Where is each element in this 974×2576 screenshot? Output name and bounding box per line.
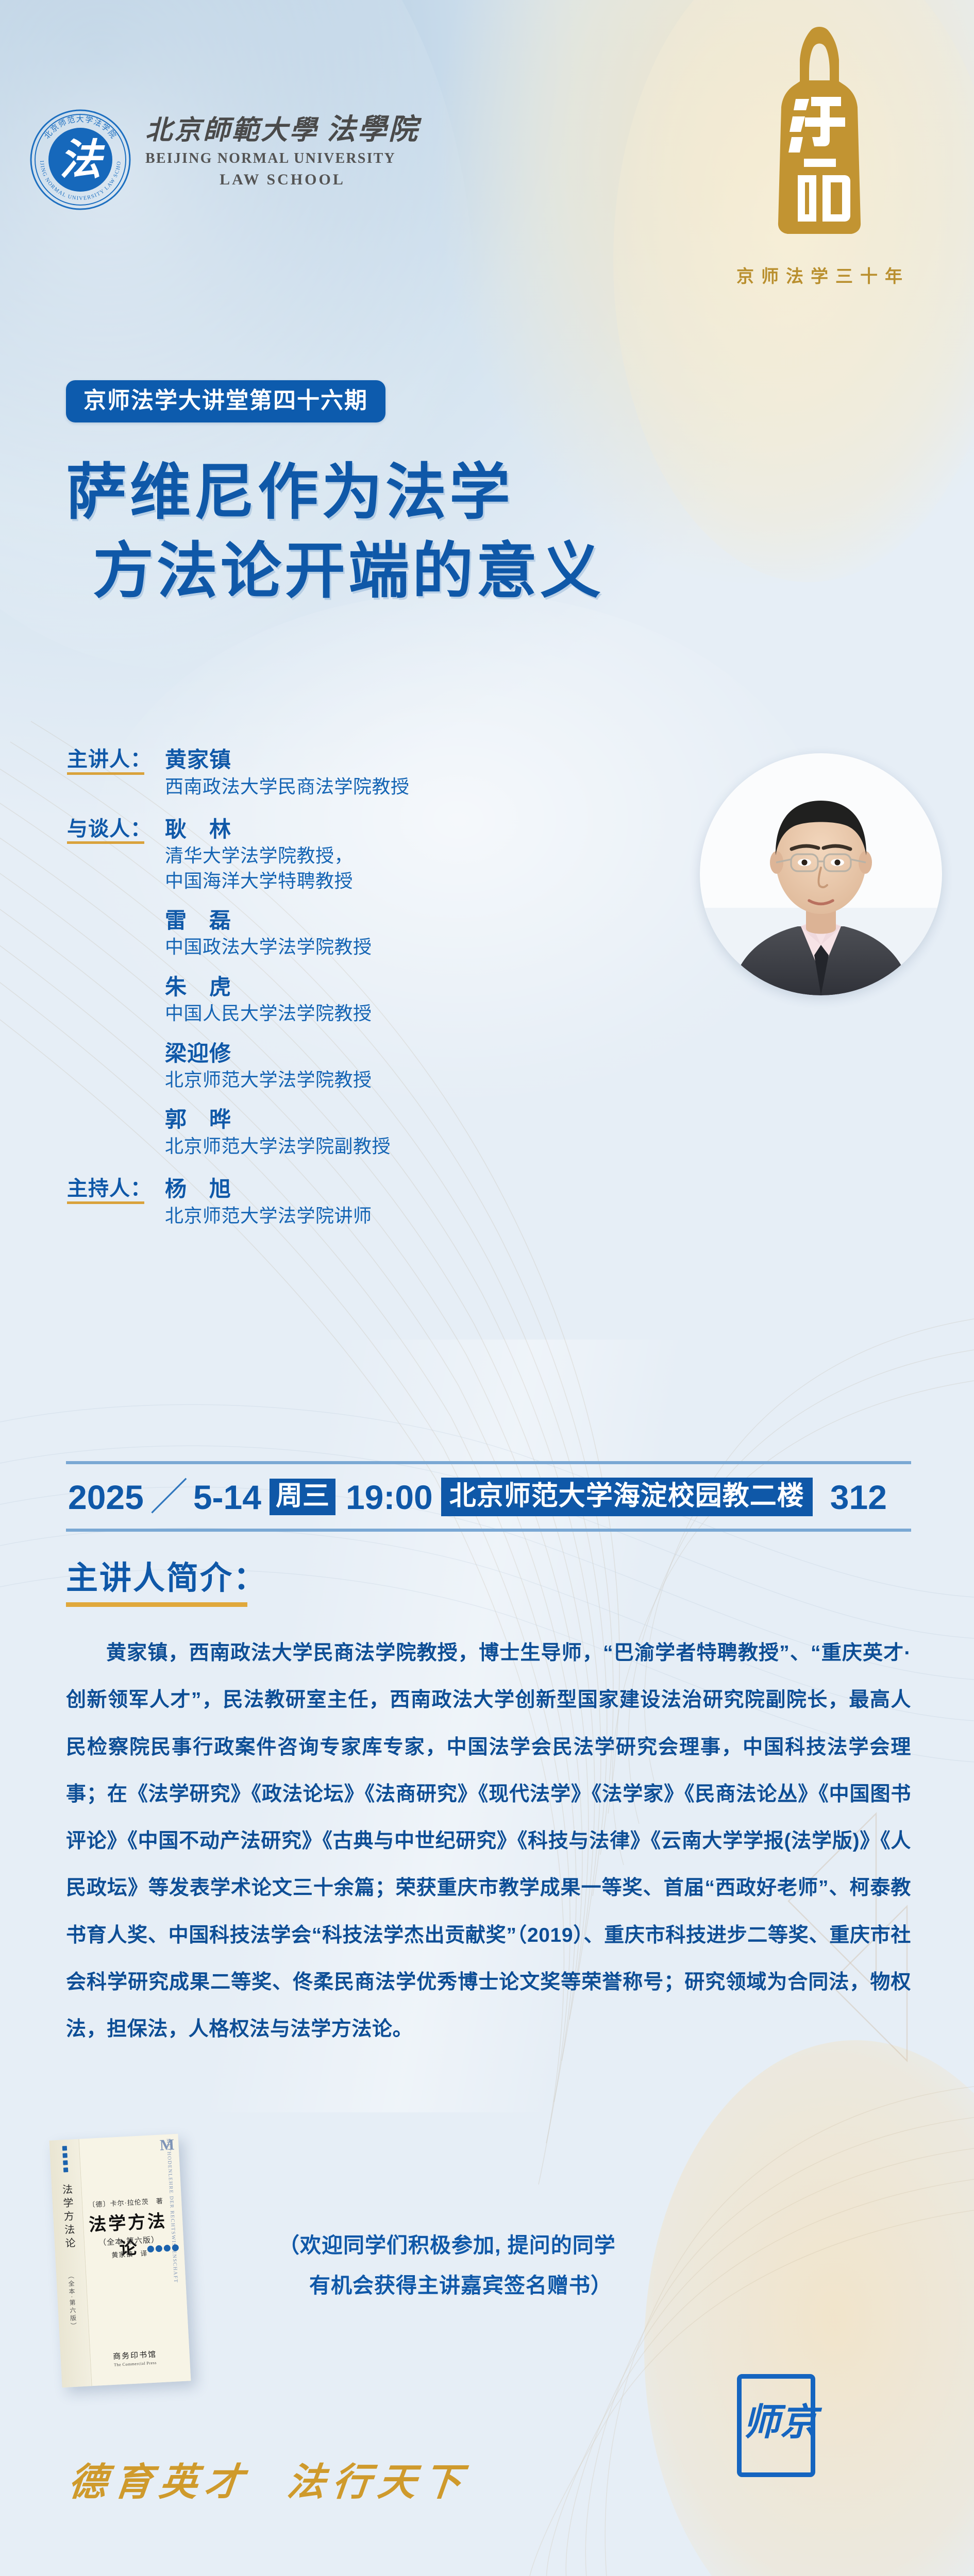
event-date: 5-14 <box>193 1480 261 1514</box>
event-weekday-chip: 周三 <box>270 1479 335 1515</box>
poster-header: 北京师范大学法学院 BEIJING NORMAL UNIVERSITY LAW … <box>0 0 974 355</box>
people-group-speaker: 主讲人： 黄家镇 西南政法大学民商法学院教授 <box>67 746 634 799</box>
person-name: 梁迎修 <box>165 1040 634 1068</box>
bio-heading: 主讲人简介： <box>66 1561 267 1596</box>
book-publisher-cn: 商务印书馆 <box>113 2351 157 2361</box>
list-item: 郭 晔 北京师范大学法学院副教授 <box>165 1106 634 1159</box>
stamp-text: 京师 <box>739 2402 813 2449</box>
jingshi-stamp-icon: 京师 <box>737 2374 815 2477</box>
wordmark-english-school: LAW SCHOOL <box>145 171 419 189</box>
people-group-label: 与谈人： <box>67 816 165 843</box>
divider-bottom <box>66 1529 911 1532</box>
book-front-cover: M METHODENLEHRE DER RECHTSWISSENSCHAFT 〔… <box>79 2134 191 2386</box>
spacer <box>165 960 634 973</box>
book-publisher-en: The Commercial Press <box>91 2359 179 2368</box>
bnu-law-school-seal-icon: 北京师范大学法学院 BEIJING NORMAL UNIVERSITY LAW … <box>29 108 132 211</box>
list-item: 雷 磊 中国政法大学法学院教授 <box>165 907 634 960</box>
list-item: 梁迎修 北京师范大学法学院教授 <box>165 1040 634 1093</box>
speaker-portrait-photo <box>700 753 942 995</box>
page-title: 萨维尼作为法学 方法论开端的意义 <box>66 453 839 612</box>
people-list: 主讲人： 黄家镇 西南政法大学民商法学院教授 与谈人： 耿 林 清华大学法学院教… <box>67 746 634 1231</box>
book-spine-title: 法学方法论 <box>59 2184 77 2251</box>
list-item: 耿 林 清华大学法学院教授， 中国海洋大学特聘教授 <box>165 816 634 893</box>
footer-slogan: 德育英才法行天下 <box>66 2451 472 2506</box>
date-separator: ／ <box>150 1478 188 1516</box>
people-group-entries: 黄家镇 西南政法大学民商法学院教授 <box>165 746 634 799</box>
wordmark-university: 北京師範大學 <box>145 116 318 145</box>
bio-heading-underline <box>66 1602 247 1607</box>
participation-note: （欢迎同学们积极参加, 提问的同学 有机会获得主讲嘉宾签名赠书） <box>278 2226 794 2306</box>
person-affiliation: 中国政法大学法学院教授 <box>165 935 634 959</box>
wordmark-school: 法學院 <box>327 114 419 146</box>
person-affiliation: 中国海洋大学特聘教授 <box>165 869 634 893</box>
people-group-host: 主持人： 杨 旭 北京师范大学法学院讲师 <box>67 1175 634 1228</box>
book-publisher: 商务印书馆 The Commercial Press <box>90 2347 179 2368</box>
anniversary-caption: 京师法学三十年 <box>727 262 912 287</box>
speaker-bio-section: 主讲人简介： 黄家镇，西南政法大学民商法学院教授，博士生导师，“巴渝学者特聘教授… <box>66 1561 911 2053</box>
note-line-1: （欢迎同学们积极参加, 提问的同学 <box>278 2226 794 2266</box>
brand-lockup: 北京师范大学法学院 BEIJING NORMAL UNIVERSITY LAW … <box>29 108 419 211</box>
spacer <box>165 893 634 907</box>
slogan-right: 法行天下 <box>285 2462 471 2504</box>
people-group-entries: 耿 林 清华大学法学院教授， 中国海洋大学特聘教授 雷 磊 中国政法大学法学院教… <box>165 816 634 1159</box>
anniversary-30-seal-icon <box>742 21 897 252</box>
person-affiliation: 北京师范大学法学院教授 <box>165 1067 634 1092</box>
series-badge: 京师法学大讲堂第四十六期 <box>66 380 385 422</box>
anniversary-block: 京师法学三十年 <box>727 21 912 287</box>
event-year: 2025 <box>68 1480 144 1514</box>
book-spine-subtitle: （全本·第六版） <box>66 2273 78 2331</box>
title-line-1: 萨维尼作为法学 <box>66 453 839 532</box>
person-affiliation: 清华大学法学院教授， <box>165 843 634 868</box>
slogan-left: 德育英才 <box>66 2462 253 2504</box>
wordmark: 北京師範大學法學院 BEIJING NORMAL UNIVERSITY LAW … <box>145 108 419 189</box>
person-name: 黄家镇 <box>165 746 634 774</box>
person-affiliation: 北京师范大学法学院讲师 <box>165 1204 634 1228</box>
event-datetime-row: 2025 ／ 5-14 周三 19:00 北京师范大学海淀校园教二楼 312 <box>66 1464 911 1529</box>
book-cover: 法学方法论 （全本·第六版） M METHODENLEHRE DER RECHT… <box>49 2134 191 2387</box>
wordmark-chinese: 北京師範大學法學院 <box>145 115 419 144</box>
people-group-discussants: 与谈人： 耿 林 清华大学法学院教授， 中国海洋大学特聘教授 雷 磊 中国政法大… <box>67 816 634 1159</box>
event-venue-chip: 北京师范大学海淀校园教二楼 <box>441 1478 813 1516</box>
person-name: 朱 虎 <box>165 973 634 1002</box>
book-spine-dots-icon <box>62 2146 68 2172</box>
people-group-label: 主持人： <box>67 1175 165 1203</box>
spacer <box>165 1026 634 1040</box>
person-name: 耿 林 <box>165 816 634 844</box>
person-name: 杨 旭 <box>165 1175 634 1204</box>
person-affiliation: 北京师范大学法学院副教授 <box>165 1134 634 1159</box>
person-affiliation: 中国人民大学法学院教授 <box>165 1001 634 1026</box>
poster-root: 北京师范大学法学院 BEIJING NORMAL UNIVERSITY LAW … <box>0 0 974 2576</box>
wordmark-english-university: BEIJING NORMAL UNIVERSITY <box>145 150 419 167</box>
spacer <box>165 1092 634 1106</box>
event-room: 312 <box>830 1480 887 1514</box>
bio-paragraph: 黄家镇，西南政法大学民商法学院教授，博士生导师，“巴渝学者特聘教授”、“重庆英才… <box>66 1630 911 2053</box>
spacer <box>67 1162 634 1175</box>
people-group-entries: 杨 旭 北京师范大学法学院讲师 <box>165 1175 634 1228</box>
event-time: 19:00 <box>346 1480 433 1514</box>
note-line-2: 有机会获得主讲嘉宾签名赠书） <box>278 2266 794 2306</box>
people-group-label: 主讲人： <box>67 746 165 774</box>
person-name: 雷 磊 <box>165 907 634 935</box>
svg-text:法: 法 <box>59 137 105 183</box>
spacer <box>67 802 634 816</box>
person-affiliation: 西南政法大学民商法学院教授 <box>165 774 634 799</box>
person-name: 郭 晔 <box>165 1106 634 1134</box>
event-datetime-bar: 2025 ／ 5-14 周三 19:00 北京师范大学海淀校园教二楼 312 <box>66 1461 911 1532</box>
list-item: 朱 虎 中国人民大学法学院教授 <box>165 973 634 1026</box>
title-line-2: 方法论开端的意义 <box>66 532 839 611</box>
